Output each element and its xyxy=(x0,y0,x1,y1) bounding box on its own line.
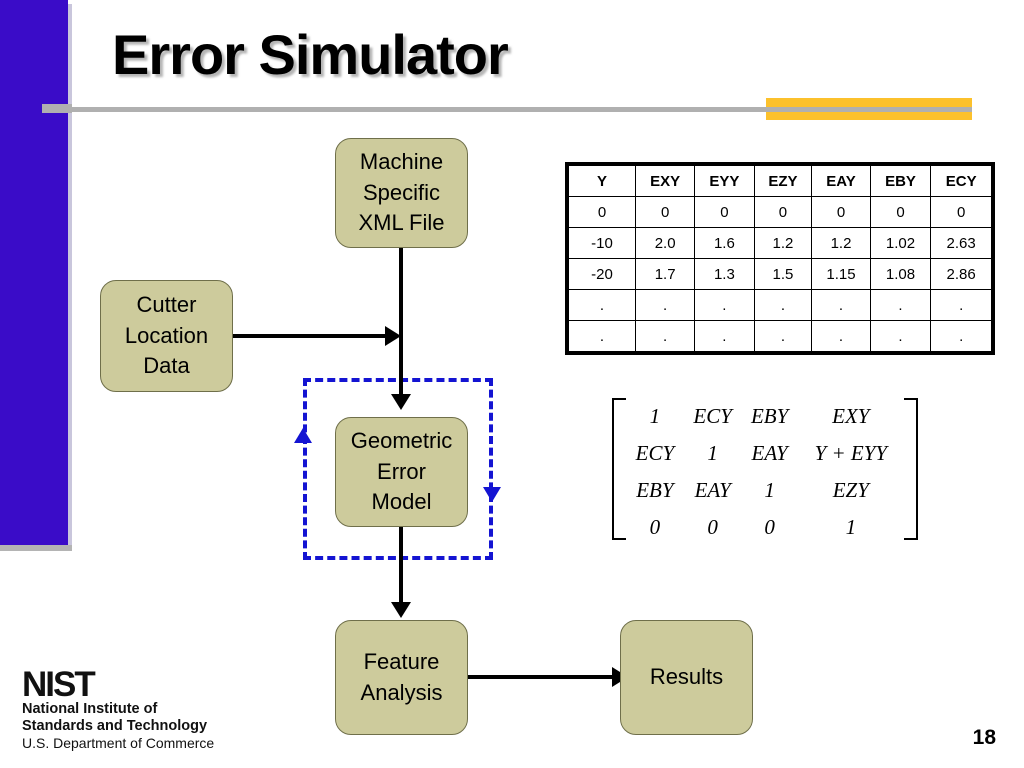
connector-cutter-to-flow xyxy=(233,334,389,338)
table-header-cell: EYY xyxy=(695,166,754,197)
table-cell: 0 xyxy=(569,197,636,228)
left-band-shadow-bottom xyxy=(0,545,72,551)
table-cell: 0 xyxy=(636,197,695,228)
table-header-cell: Y xyxy=(569,166,636,197)
matrix-cell: EAY xyxy=(742,435,798,472)
table-cell: 2.63 xyxy=(931,228,992,259)
matrix-cell: EXY xyxy=(798,398,904,435)
table-cell: . xyxy=(569,290,636,321)
matrix-row: 1 ECY EBY EXY xyxy=(626,398,904,435)
page-title: Error Simulator xyxy=(112,22,508,87)
flow-node-results[interactable]: Results xyxy=(620,620,753,735)
table-cell: 0 xyxy=(695,197,754,228)
table-cell: . xyxy=(931,321,992,352)
nist-tagline-line-3: U.S. Department of Commerce xyxy=(22,735,222,753)
flow-node-cutter-line-1: Cutter xyxy=(137,290,197,320)
arrow-down-icon-machine xyxy=(391,394,411,410)
table-header-cell: EBY xyxy=(870,166,931,197)
table-cell: 1.2 xyxy=(754,228,812,259)
table-cell: . xyxy=(812,290,870,321)
matrix-cell: EZY xyxy=(798,472,904,509)
flow-node-cutter-location-data[interactable]: Cutter Location Data xyxy=(100,280,233,392)
flow-node-geometric-error-model[interactable]: Geometric Error Model xyxy=(335,417,468,527)
table-cell: . xyxy=(870,321,931,352)
table-cell: . xyxy=(695,321,754,352)
error-matrix: 1 ECY EBY EXY ECY 1 EAY Y + EYY EBY EAY … xyxy=(612,398,918,540)
feedback-loop-arrow-down-icon xyxy=(483,487,501,502)
table-cell: 1.02 xyxy=(870,228,931,259)
connector-feature-to-results xyxy=(468,675,616,679)
flow-node-feature-line-2: Analysis xyxy=(361,678,443,708)
title-divider-tab xyxy=(42,104,72,113)
matrix-row: 0 0 0 1 xyxy=(626,509,904,546)
flow-node-geometric-line-1: Geometric xyxy=(351,426,452,456)
table-cell: -10 xyxy=(569,228,636,259)
connector-machine-to-geometric xyxy=(399,248,403,398)
matrix-grid: 1 ECY EBY EXY ECY 1 EAY Y + EYY EBY EAY … xyxy=(626,398,904,546)
table-cell: -20 xyxy=(569,259,636,290)
table-cell: . xyxy=(695,290,754,321)
flow-node-machine-line-1: Machine xyxy=(360,147,443,177)
table-cell: . xyxy=(636,290,695,321)
flow-node-cutter-line-2: Location xyxy=(125,321,208,351)
table-row: . . . . . . . xyxy=(569,290,992,321)
table-cell: 1.3 xyxy=(695,259,754,290)
matrix-cell: ECY xyxy=(684,398,742,435)
flow-node-feature-analysis[interactable]: Feature Analysis xyxy=(335,620,468,735)
flow-node-results-line-1: Results xyxy=(650,662,723,692)
table-header-cell: EXY xyxy=(636,166,695,197)
arrow-down-icon-geometric xyxy=(391,602,411,618)
table-cell: . xyxy=(870,290,931,321)
table-cell: 2.86 xyxy=(931,259,992,290)
nist-tagline-line-2: Standards and Technology xyxy=(22,718,222,735)
table-cell: 1.6 xyxy=(695,228,754,259)
matrix-cell: 1 xyxy=(798,509,904,546)
flow-node-feature-line-1: Feature xyxy=(364,647,440,677)
title-divider-rule xyxy=(64,107,972,112)
table-cell: 0 xyxy=(931,197,992,228)
table-row: 0 0 0 0 0 0 0 xyxy=(569,197,992,228)
matrix-cell: EBY xyxy=(742,398,798,435)
flow-node-machine-line-3: XML File xyxy=(359,208,445,238)
nist-tagline-line-1: National Institute of xyxy=(22,701,222,718)
table-header-cell: ECY xyxy=(931,166,992,197)
table-row: -10 2.0 1.6 1.2 1.2 1.02 2.63 xyxy=(569,228,992,259)
table-cell: 1.7 xyxy=(636,259,695,290)
matrix-row: EBY EAY 1 EZY xyxy=(626,472,904,509)
flow-node-geometric-line-2: Error xyxy=(377,457,426,487)
table-cell: . xyxy=(754,290,812,321)
table-header-row: Y EXY EYY EZY EAY EBY ECY xyxy=(569,166,992,197)
matrix-cell: 0 xyxy=(684,509,742,546)
left-purple-band xyxy=(0,0,68,545)
table-cell: 0 xyxy=(812,197,870,228)
matrix-left-bracket-icon xyxy=(612,398,626,540)
table-cell: 1.08 xyxy=(870,259,931,290)
slide-canvas: Error Simulator Machine Specific XML Fil… xyxy=(0,0,1024,768)
table-header-cell: EZY xyxy=(754,166,812,197)
left-band-shadow-right xyxy=(68,4,72,549)
error-data-table-container: Y EXY EYY EZY EAY EBY ECY 0 0 0 0 0 0 xyxy=(565,162,995,355)
matrix-cell: EBY xyxy=(626,472,684,509)
matrix-cell: ECY xyxy=(626,435,684,472)
matrix-cell: Y + EYY xyxy=(798,435,904,472)
arrow-right-icon-cutter xyxy=(385,326,401,346)
matrix-cell: 1 xyxy=(742,472,798,509)
table-header-cell: EAY xyxy=(812,166,870,197)
table-cell: . xyxy=(636,321,695,352)
matrix-cell: 1 xyxy=(626,398,684,435)
matrix-row: ECY 1 EAY Y + EYY xyxy=(626,435,904,472)
table-cell: . xyxy=(812,321,870,352)
matrix-right-bracket-icon xyxy=(904,398,918,540)
table-cell: 2.0 xyxy=(636,228,695,259)
flow-node-machine-line-2: Specific xyxy=(363,178,440,208)
table-row: -20 1.7 1.3 1.5 1.15 1.08 2.86 xyxy=(569,259,992,290)
flow-node-machine-specific-xml-file[interactable]: Machine Specific XML File xyxy=(335,138,468,248)
matrix-cell: EAY xyxy=(684,472,742,509)
table-cell: . xyxy=(754,321,812,352)
table-cell: 0 xyxy=(754,197,812,228)
nist-wordmark: NIST xyxy=(22,668,222,701)
flow-node-geometric-line-3: Model xyxy=(372,487,432,517)
table-cell: . xyxy=(569,321,636,352)
table-cell: 1.2 xyxy=(812,228,870,259)
page-number: 18 xyxy=(973,726,996,750)
connector-geometric-to-feature xyxy=(399,527,403,607)
feedback-loop-arrow-up-icon xyxy=(294,428,312,443)
table-row: . . . . . . . xyxy=(569,321,992,352)
matrix-cell: 1 xyxy=(684,435,742,472)
error-data-table: Y EXY EYY EZY EAY EBY ECY 0 0 0 0 0 0 xyxy=(568,165,992,352)
table-cell: 0 xyxy=(870,197,931,228)
table-cell: . xyxy=(931,290,992,321)
nist-logo: NIST National Institute of Standards and… xyxy=(22,668,222,752)
table-cell: 1.15 xyxy=(812,259,870,290)
matrix-cell: 0 xyxy=(742,509,798,546)
matrix-cell: 0 xyxy=(626,509,684,546)
flow-node-cutter-line-3: Data xyxy=(143,351,189,381)
table-cell: 1.5 xyxy=(754,259,812,290)
